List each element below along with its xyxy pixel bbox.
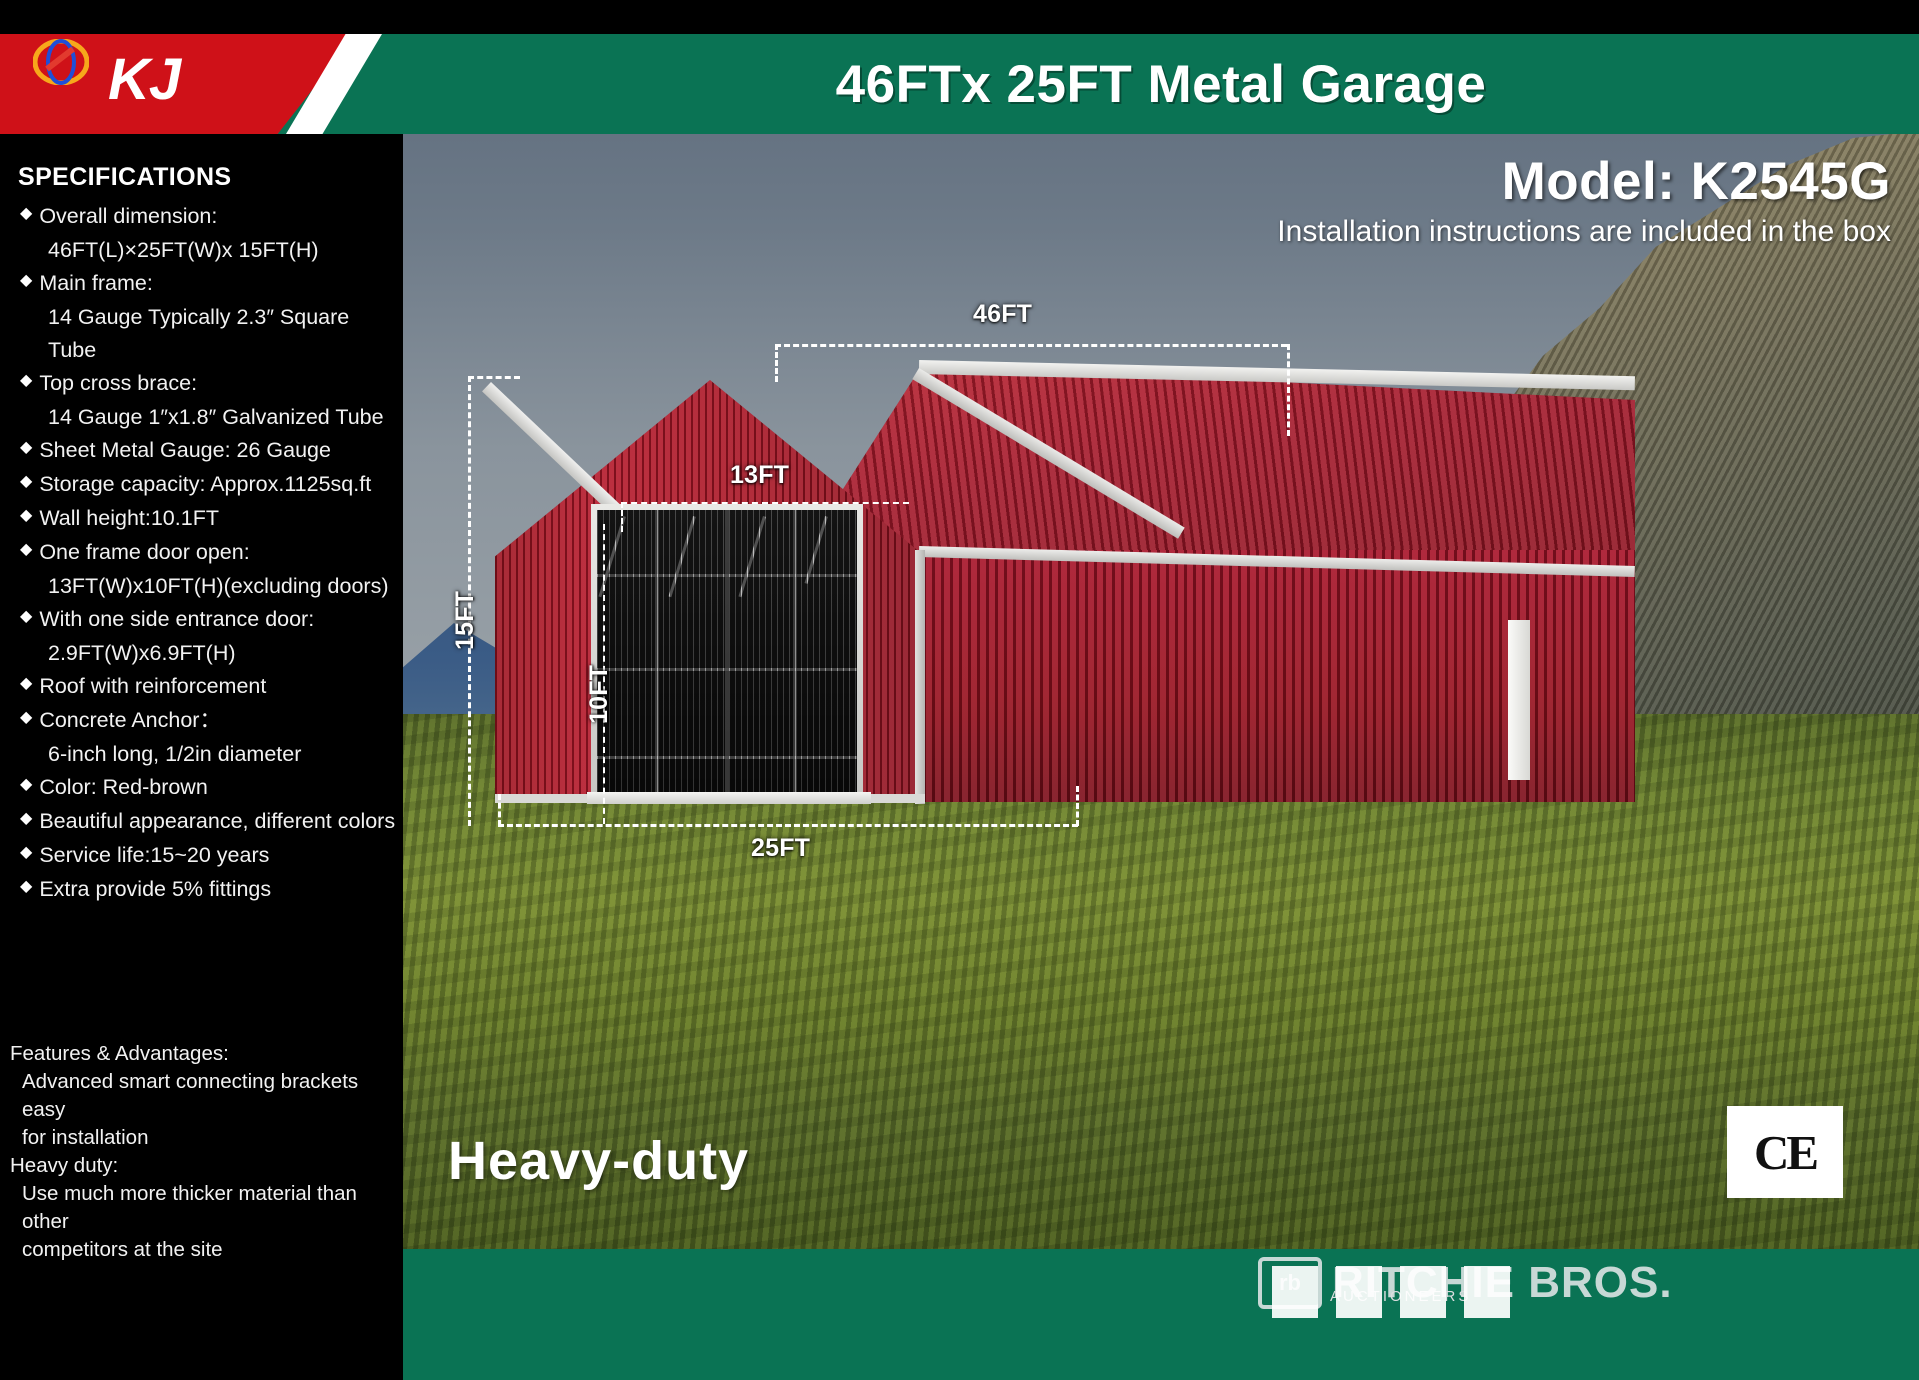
heavy-duty-body-2: competitors at the site (10, 1236, 402, 1264)
brand-name: KJ (108, 46, 180, 113)
spec-item-label: Beautiful appearance, different colors (39, 805, 395, 838)
spec-item: ◆Service life:15~20 years (14, 839, 400, 872)
spec-item-detail: 13FT(W)x10FT(H)(excluding doors) (48, 570, 400, 603)
spec-item: ◆Main frame: (14, 267, 400, 300)
fragile-icon (1272, 1266, 1318, 1318)
spec-item-label: Main frame: (39, 267, 153, 300)
spec-item-label: Sheet Metal Gauge: 26 Gauge (39, 434, 331, 467)
page-title: 46FTx 25FT Metal Garage (403, 34, 1919, 134)
dim-label-height: 15FT (451, 591, 480, 650)
spec-item-label: Overall dimension: (39, 200, 217, 233)
spec-item-label: One frame door open: (39, 536, 249, 569)
corner-trim (915, 550, 925, 804)
door-rail (597, 756, 857, 759)
spec-item-detail: 6-inch long, 1/2in diameter (48, 738, 400, 771)
spec-item: ◆Sheet Metal Gauge: 26 Gauge (14, 434, 400, 467)
forklift-icon (1464, 1266, 1510, 1318)
spec-item-label: Color: Red-brown (39, 771, 207, 804)
model-number: Model: K2545G (1277, 152, 1891, 212)
spec-item-label: Extra provide 5% fittings (39, 873, 271, 906)
features-body-2: for installation (10, 1124, 402, 1152)
diamond-bullet-icon: ◆ (20, 474, 32, 490)
diamond-bullet-icon: ◆ (20, 206, 32, 222)
spec-item-label: Service life:15~20 years (39, 839, 269, 872)
diamond-bullet-icon: ◆ (20, 373, 32, 389)
door-diagonal-brace (668, 516, 695, 597)
dim-label-door-height: 10FT (585, 665, 614, 724)
diamond-bullet-icon: ◆ (20, 710, 32, 726)
spec-item: ◆Storage capacity: Approx.1125sq.ft (14, 468, 400, 501)
garage-roof (795, 364, 1635, 564)
diamond-bullet-icon: ◆ (20, 879, 32, 895)
heavy-duty-body-1: Use much more thicker material than othe… (10, 1180, 402, 1236)
spec-item: ◆Extra provide 5% fittings (14, 873, 400, 906)
page-title-text: 46FTx 25FT Metal Garage (836, 54, 1487, 115)
diamond-bullet-icon: ◆ (20, 273, 32, 289)
features-heading: Features & Advantages: (10, 1040, 402, 1068)
door-post (725, 510, 729, 799)
spec-item: ◆Roof with reinforcement (14, 670, 400, 703)
top-black-strip (0, 0, 1919, 34)
garage-door-opening (597, 510, 857, 799)
heavy-duty-heading: Heavy duty: (10, 1152, 402, 1180)
spec-item-label: Wall height:10.1FT (39, 502, 219, 535)
diamond-bullet-icon: ◆ (20, 440, 32, 456)
model-block: Model: K2545G Installation instructions … (1277, 152, 1891, 252)
spec-item: ◆Top cross brace: (14, 367, 400, 400)
features-body-1: Advanced smart connecting brackets easy (10, 1068, 402, 1124)
diamond-bullet-icon: ◆ (20, 811, 32, 827)
dim-label-width: 25FT (751, 834, 810, 863)
metal-garage-illustration (495, 364, 1635, 844)
diamond-bullet-icon: ◆ (20, 676, 32, 692)
spec-item: ◆With one side entrance door: (14, 603, 400, 636)
diamond-bullet-icon: ◆ (20, 542, 32, 558)
specifications-panel: SPECIFICATIONS ◆Overall dimension:46FT(L… (0, 0, 403, 1380)
spec-item: ◆Color: Red-brown (14, 771, 400, 804)
side-entrance-door (1508, 620, 1530, 780)
product-spec-sheet: 46FT 15FT 25FT 13FT 10FT Heavy-duty CE r… (0, 0, 1919, 1380)
spec-item: ◆One frame door open: (14, 536, 400, 569)
spec-item-label: Roof with reinforcement (39, 670, 266, 703)
spec-item: ◆Beautiful appearance, different colors (14, 805, 400, 838)
spec-item-label: With one side entrance door: (39, 603, 314, 636)
spec-item-detail: 2.9FT(W)x6.9FT(H) (48, 637, 400, 670)
door-rail (597, 574, 857, 577)
dim-label-length: 46FT (973, 300, 1032, 329)
kj-globe-logo-icon (33, 39, 89, 85)
diamond-bullet-icon: ◆ (20, 845, 32, 861)
door-diagonal-brace (805, 516, 828, 584)
features-advantages-block: Features & Advantages: Advanced smart co… (10, 1040, 402, 1264)
door-sill (587, 792, 871, 804)
spec-item-detail: 46FT(L)×25FT(W)x 15FT(H) (48, 234, 400, 267)
door-diagonal-brace (738, 516, 765, 597)
spec-item-label: Concrete Anchor： (39, 704, 221, 737)
keep-dry-icon (1400, 1266, 1446, 1318)
spec-item-detail: 14 Gauge 1″x1.8″ Galvanized Tube (48, 401, 400, 434)
spec-item: ◆Concrete Anchor： (14, 704, 400, 737)
specifications-heading: SPECIFICATIONS (18, 163, 232, 192)
door-post (793, 510, 797, 799)
diamond-bullet-icon: ◆ (20, 508, 32, 524)
package-handling-icons (1272, 1266, 1510, 1318)
model-note: Installation instructions are included i… (1277, 212, 1891, 252)
spec-item-label: Storage capacity: Approx.1125sq.ft (39, 468, 371, 501)
door-post (655, 510, 659, 799)
door-diagonal-brace (598, 516, 625, 597)
spec-item: ◆Overall dimension: (14, 200, 400, 233)
door-rail (597, 668, 857, 671)
specifications-list: ◆Overall dimension:46FT(L)×25FT(W)x 15FT… (14, 200, 400, 907)
spec-item-label: Top cross brace: (39, 367, 197, 400)
spec-item-detail: 14 Gauge Typically 2.3″ Square Tube (48, 301, 400, 367)
diamond-bullet-icon: ◆ (20, 777, 32, 793)
this-way-up-icon (1336, 1266, 1382, 1318)
ce-mark-label: CE (1754, 1124, 1816, 1181)
diamond-bullet-icon: ◆ (20, 609, 32, 625)
ce-mark: CE (1727, 1106, 1843, 1198)
dim-label-door-width: 13FT (730, 461, 789, 490)
spec-item: ◆Wall height:10.1FT (14, 502, 400, 535)
heavy-duty-tagline: Heavy-duty (448, 1130, 749, 1192)
